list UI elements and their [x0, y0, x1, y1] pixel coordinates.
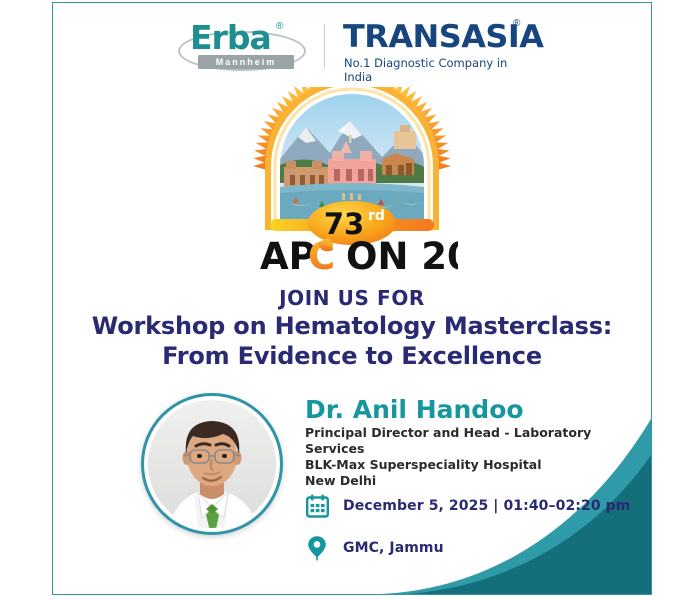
speaker-role: Principal Director and Head - Laboratory…	[305, 425, 635, 457]
erba-registered-icon: ®	[276, 21, 283, 32]
speaker-details: Dr. Anil Handoo Principal Director and H…	[305, 395, 635, 489]
speaker-photo	[148, 400, 276, 528]
ordinal-suffix: rd	[368, 208, 385, 224]
erba-wordmark: Erba	[190, 21, 271, 54]
page-title: Workshop on Hematology Masterclass: From…	[53, 311, 651, 371]
logo-divider	[324, 24, 325, 68]
brand-header: Erba ® Mannheim TRANSASIA ® No.1 Diagnos…	[53, 15, 651, 77]
invite-line: JOIN US FOR	[53, 286, 651, 310]
speaker-portrait-image	[148, 400, 276, 528]
speaker-name: Dr. Anil Handoo	[305, 395, 635, 425]
apcon-emblem: 73 rd AP ON 2025 C	[246, 87, 458, 277]
erba-mannheim-logo: Erba ® Mannheim	[176, 17, 306, 75]
erba-subbrand-label: Mannheim	[198, 55, 294, 69]
speaker-organization: BLK-Max Superspeciality Hospital	[305, 457, 635, 473]
avatar	[141, 393, 283, 535]
event-meta: December 5, 2025 | 01:40–02:20 pm GMC, J…	[305, 485, 645, 569]
transasia-registered-icon: ®	[513, 18, 520, 29]
title-line-1: Workshop on Hematology Masterclass:	[53, 311, 651, 341]
event-datetime: December 5, 2025 | 01:40–02:20 pm	[343, 498, 630, 514]
event-venue-row: GMC, Jammu	[305, 527, 645, 569]
apcon-text-on: ON 2025	[346, 235, 458, 277]
erba-subbrand-bar: Mannheim	[198, 55, 294, 69]
apcon-wordmark: AP ON 2025 C	[260, 235, 458, 277]
event-venue: GMC, Jammu	[343, 540, 444, 556]
location-pin-icon	[305, 535, 329, 561]
calendar-icon	[305, 493, 329, 519]
event-datetime-row: December 5, 2025 | 01:40–02:20 pm	[305, 485, 645, 527]
transasia-logo: TRANSASIA ® No.1 Diagnostic Company in I…	[343, 18, 528, 74]
title-line-2: From Evidence to Excellence	[53, 341, 651, 371]
transasia-tagline: No.1 Diagnostic Company in India	[344, 56, 528, 84]
event-poster: Erba ® Mannheim TRANSASIA ® No.1 Diagnos…	[52, 2, 652, 595]
